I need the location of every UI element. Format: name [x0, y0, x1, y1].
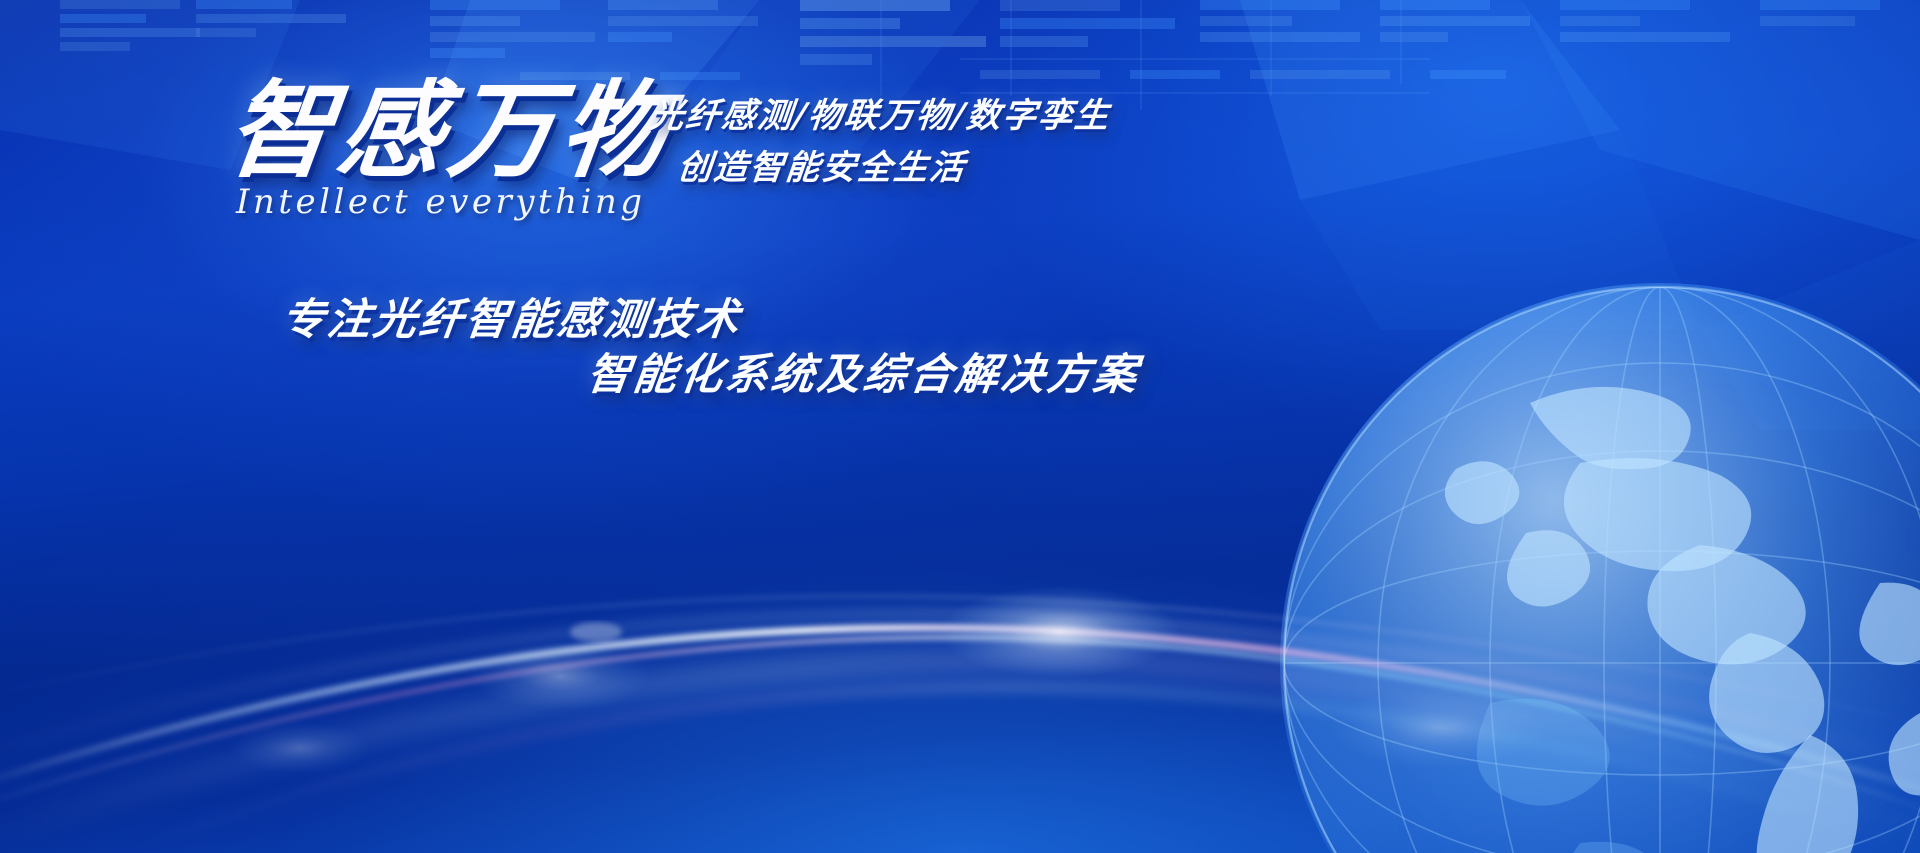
lower-line-2: 智能化系统及综合解决方案: [584, 340, 1144, 402]
english-subtitle: Intellect everything: [236, 182, 646, 222]
lower-line-1: 专注光纤智能感测技术: [278, 285, 746, 347]
tagline-line-2: 创造智能安全生活: [675, 140, 968, 189]
tagline-line-1: 光纤感测/物联万物/数字孪生: [647, 88, 1113, 137]
page-title: 智感万物: [222, 78, 679, 183]
globe-graphic: [1280, 283, 1920, 853]
promotional-banner: 智感万物 Intellect everything 光纤感测/物联万物/数字孪生…: [0, 0, 1920, 853]
